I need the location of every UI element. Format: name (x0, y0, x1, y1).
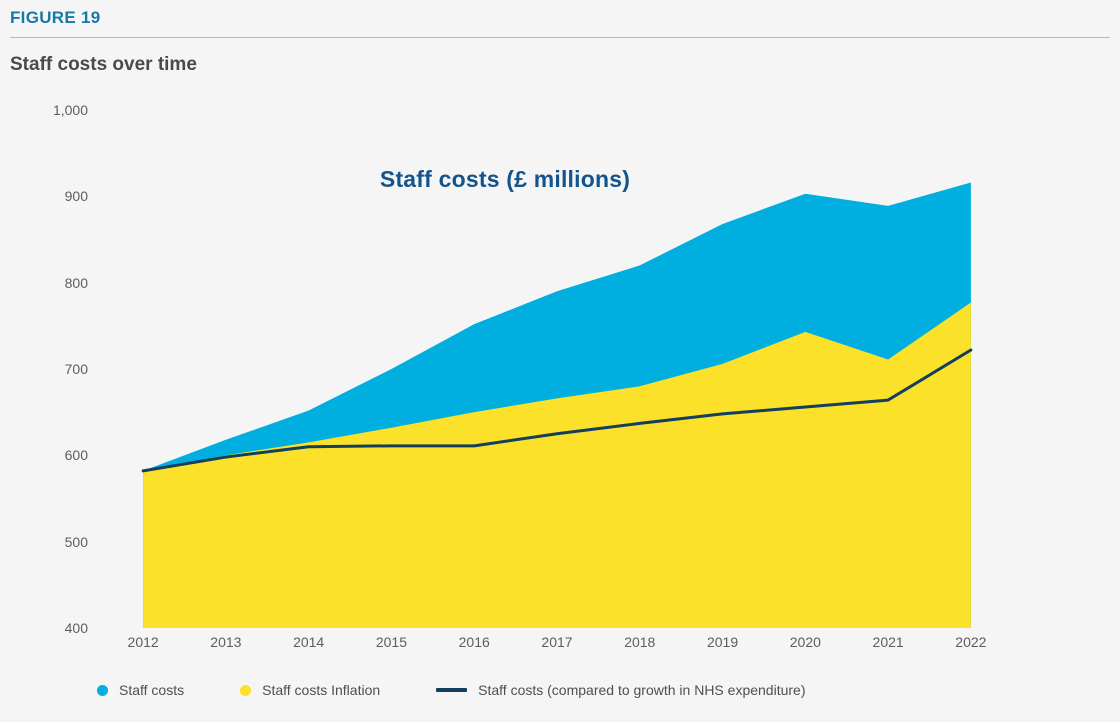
legend-item[interactable]: Staff costs (97, 682, 184, 698)
legend-item[interactable]: Staff costs Inflation (240, 682, 380, 698)
y-axis-tick-label: 1,000 (53, 102, 88, 118)
figure-number-label: FIGURE 19 (10, 8, 101, 28)
legend-dot-icon (240, 685, 251, 696)
legend-line-icon (436, 688, 467, 692)
y-axis-tick-label: 500 (65, 534, 88, 550)
y-axis-tick-label: 600 (65, 447, 88, 463)
x-axis-tick-label: 2016 (459, 634, 490, 650)
legend-item-label: Staff costs (119, 682, 184, 698)
legend-item[interactable]: Staff costs (compared to growth in NHS e… (436, 682, 805, 698)
legend-dot-icon (97, 685, 108, 696)
x-axis-tick-label: 2022 (955, 634, 986, 650)
x-axis-tick-label: 2020 (790, 634, 821, 650)
header-divider (10, 37, 1110, 38)
chart-container: Staff costs (£ millions) 400500600700800… (0, 110, 1120, 722)
x-axis-tick-label: 2019 (707, 634, 738, 650)
figure-subtitle: Staff costs over time (10, 54, 197, 76)
legend-item-label: Staff costs Inflation (262, 682, 380, 698)
x-axis-tick-label: 2017 (541, 634, 572, 650)
y-axis-tick-label: 900 (65, 188, 88, 204)
x-axis-tick-label: 2014 (293, 634, 324, 650)
chart-legend: Staff costsStaff costs InflationStaff co… (97, 682, 861, 698)
legend-item-label: Staff costs (compared to growth in NHS e… (478, 682, 805, 698)
x-axis-tick-label: 2013 (210, 634, 241, 650)
y-axis-labels: 4005006007008009001,000 (0, 110, 110, 670)
x-axis-tick-label: 2018 (624, 634, 655, 650)
x-axis-tick-label: 2015 (376, 634, 407, 650)
y-axis-tick-label: 700 (65, 361, 88, 377)
x-axis-labels: 2012201320142015201620172018201920202021… (0, 634, 1120, 664)
area-chart-svg (110, 110, 1004, 628)
y-axis-tick-label: 800 (65, 275, 88, 291)
x-axis-tick-label: 2021 (873, 634, 904, 650)
plot-area (110, 110, 1004, 628)
x-axis-tick-label: 2012 (128, 634, 159, 650)
